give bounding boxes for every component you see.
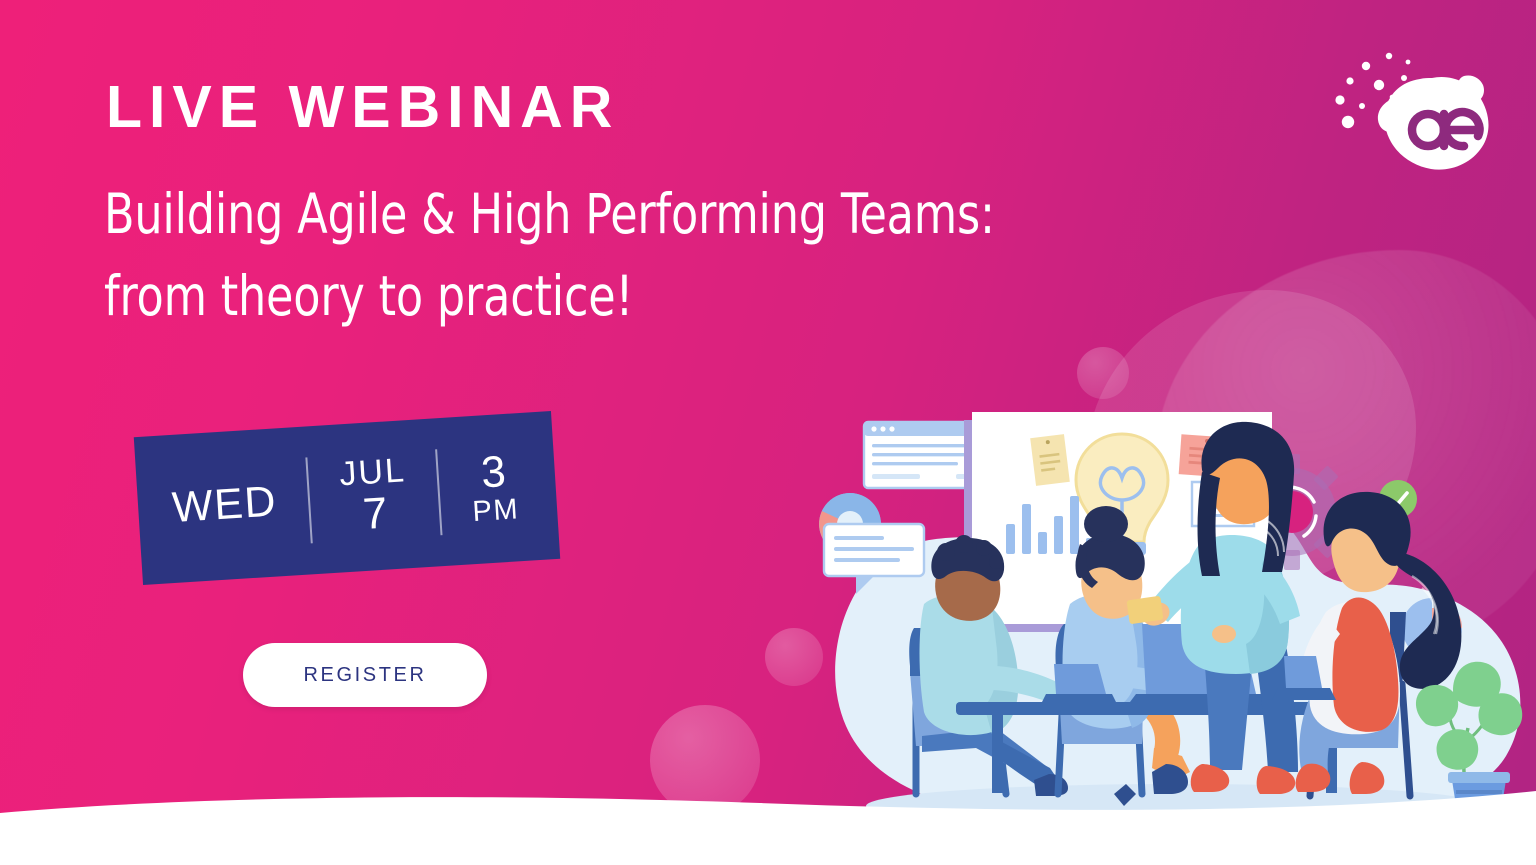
kicker-text: LIVE WEBINAR (106, 78, 619, 137)
decorative-circle-1 (650, 705, 760, 815)
logo-blob-lobe (1457, 75, 1484, 103)
badge-date-group: JUL 7 (338, 454, 409, 540)
logo-dot (1346, 77, 1353, 84)
logo-dot (1406, 60, 1411, 65)
badge-divider-1 (305, 457, 312, 543)
logo-dot (1335, 95, 1344, 104)
headline-line-2: from theory to practice! (104, 256, 1166, 338)
badge-weekday: WED (171, 480, 278, 531)
date-badge: WED JUL 7 3 PM (134, 411, 560, 585)
logo-dot (1386, 53, 1392, 59)
badge-divider-2 (436, 449, 443, 535)
logo-dot (1401, 75, 1407, 81)
logo-dot (1342, 116, 1354, 128)
badge-meridiem: PM (472, 495, 520, 527)
team-meeting-illustration (806, 376, 1536, 846)
badge-time-group: 3 PM (469, 449, 532, 528)
badge-day-number: 7 (341, 490, 410, 539)
page-title: Building Agile & High Performing Teams: … (104, 174, 1166, 338)
sticky-note-yellow (1030, 434, 1070, 486)
logo-dot (1374, 80, 1384, 90)
logo-dot (1362, 62, 1370, 70)
badge-month: JUL (338, 454, 407, 493)
register-button[interactable]: REGISTER (243, 643, 487, 707)
logo-dot (1359, 103, 1365, 109)
badge-hour: 3 (469, 450, 518, 498)
headline-line-1: Building Agile & High Performing Teams: (104, 182, 995, 246)
webinar-banner: LIVE WEBINAR Building Agile & High Perfo… (0, 0, 1536, 865)
ae-logo[interactable] (1332, 48, 1500, 180)
